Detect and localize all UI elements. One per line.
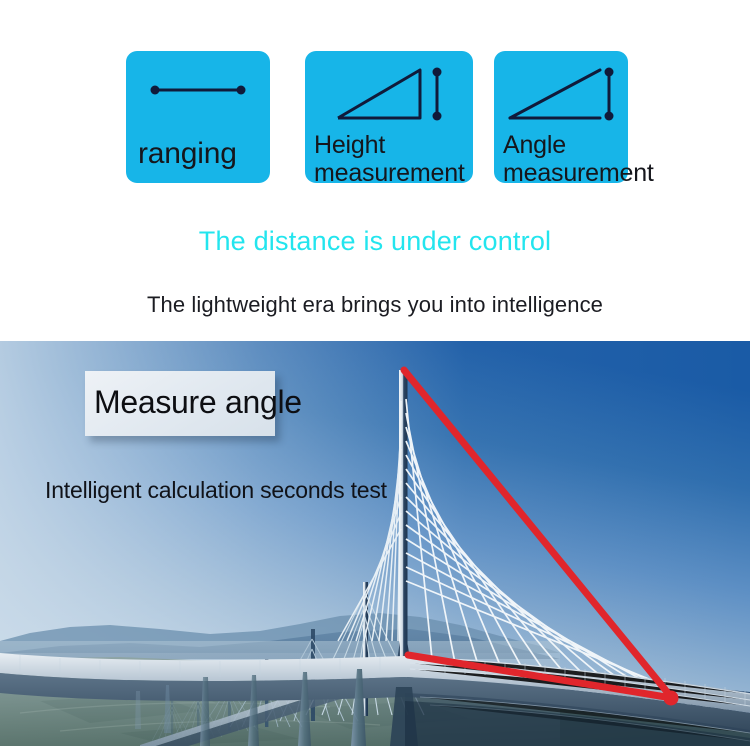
feature-card-label-line1: Angle: [503, 131, 654, 159]
feature-card-ranging[interactable]: ranging: [126, 51, 270, 183]
feature-card-row: ranging Height measurement: [0, 51, 750, 191]
open-triangle-angle-icon: [494, 51, 628, 137]
measure-line-icon: [126, 51, 270, 129]
feature-card-label-line1: Height: [314, 131, 465, 159]
feature-card-label-line2: measurement: [503, 159, 654, 187]
photo-caption-title: Measure angle: [94, 382, 302, 422]
headline-secondary: The lightweight era brings you into inte…: [0, 292, 750, 318]
right-triangle-height-icon: [305, 51, 473, 137]
feature-card-angle-measurement[interactable]: Angle measurement: [494, 51, 628, 183]
feature-card-label-line2: measurement: [314, 159, 465, 187]
feature-card-label: Height measurement: [314, 131, 465, 187]
photo-caption-subtitle: Intelligent calculation seconds test: [45, 476, 387, 504]
feature-card-height-measurement[interactable]: Height measurement: [305, 51, 473, 183]
feature-panel: ranging Height measurement: [0, 0, 750, 341]
feature-card-label: ranging: [138, 137, 237, 171]
headline-primary: The distance is under control: [0, 226, 750, 257]
feature-card-label: Angle measurement: [503, 131, 654, 187]
product-banner: ranging Height measurement: [0, 0, 750, 746]
